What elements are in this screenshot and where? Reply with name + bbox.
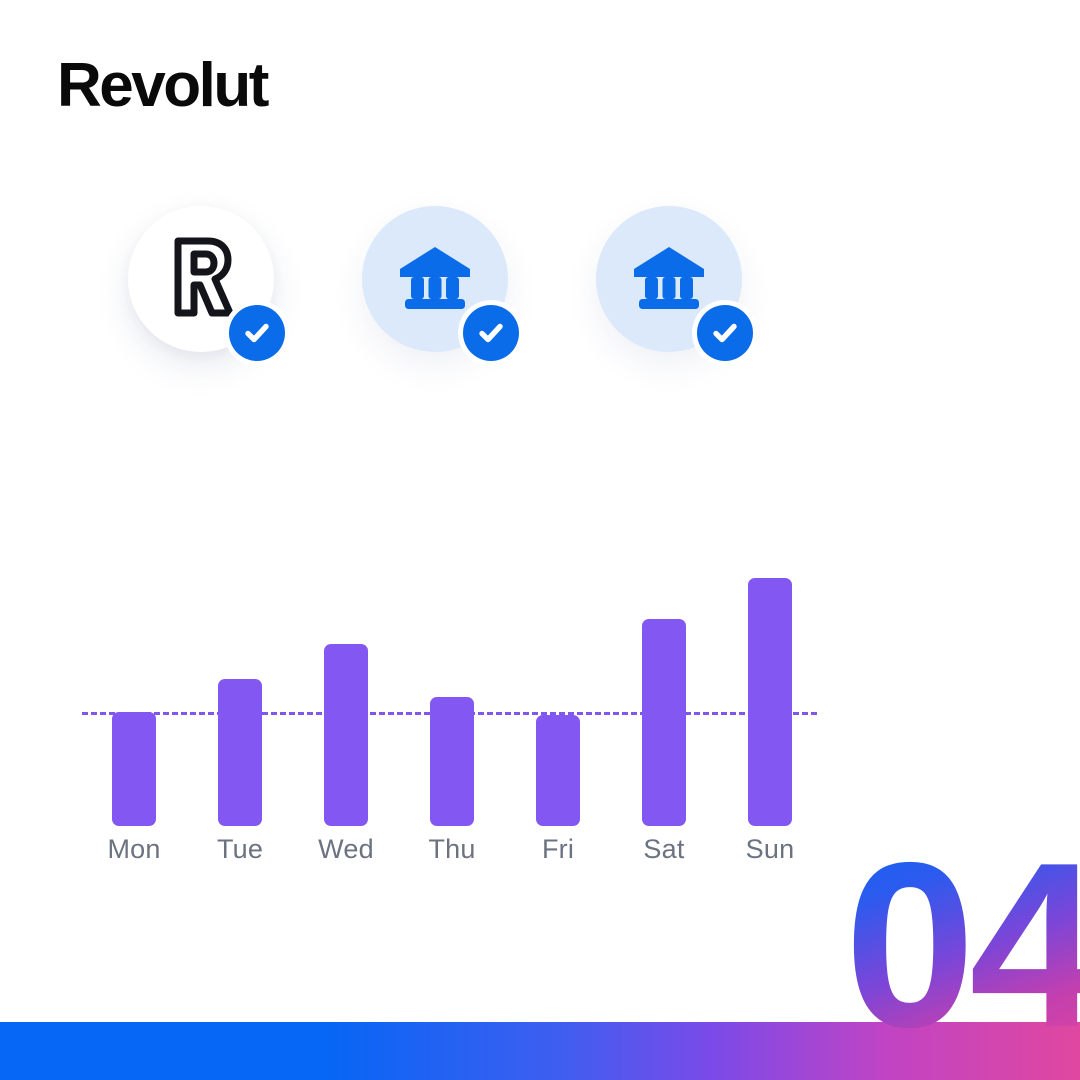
chart-bar[interactable] — [324, 644, 368, 826]
check-icon — [474, 316, 508, 350]
account-badge-bank-1[interactable] — [362, 206, 508, 352]
bar-slot[interactable] — [322, 548, 370, 826]
x-axis-label: Fri — [513, 834, 603, 865]
verified-check-badge — [458, 300, 524, 366]
chart-plot-area — [82, 548, 842, 826]
bar-slot[interactable] — [216, 548, 264, 826]
x-axis-label: Tue — [195, 834, 285, 865]
bar-slot[interactable] — [428, 548, 476, 826]
check-circle — [229, 305, 285, 361]
bar-slot[interactable] — [746, 548, 794, 826]
check-icon — [240, 316, 274, 350]
check-circle — [463, 305, 519, 361]
verified-accounts-row — [128, 206, 808, 386]
verified-check-badge — [692, 300, 758, 366]
check-circle — [697, 305, 753, 361]
chart-bar[interactable] — [430, 697, 474, 826]
bank-icon — [397, 244, 473, 314]
revolut-r-icon — [164, 235, 238, 319]
check-icon — [708, 316, 742, 350]
x-axis-label: Sat — [619, 834, 709, 865]
step-number: 04 — [845, 827, 1080, 1062]
x-axis-label: Wed — [301, 834, 391, 865]
x-axis-label: Thu — [407, 834, 497, 865]
bar-slot[interactable] — [640, 548, 688, 826]
chart-bar[interactable] — [536, 715, 580, 826]
chart-bar[interactable] — [218, 679, 262, 826]
brand-wordmark: Revolut — [57, 55, 267, 117]
chart-bar[interactable] — [112, 712, 156, 826]
verified-check-badge — [224, 300, 290, 366]
bar-slot[interactable] — [110, 548, 158, 826]
x-axis-label: Sun — [725, 834, 815, 865]
account-badge-revolut[interactable] — [128, 206, 274, 352]
weekly-spending-chart: MonTueWedThuFriSatSun — [82, 548, 842, 888]
account-badge-bank-2[interactable] — [596, 206, 742, 352]
chart-x-axis: MonTueWedThuFriSatSun — [82, 834, 842, 874]
promo-canvas: Revolut — [0, 0, 1080, 1080]
x-axis-label: Mon — [89, 834, 179, 865]
chart-bar[interactable] — [748, 578, 792, 826]
bank-icon — [631, 244, 707, 314]
bar-slot[interactable] — [534, 548, 582, 826]
chart-bar[interactable] — [642, 619, 686, 826]
